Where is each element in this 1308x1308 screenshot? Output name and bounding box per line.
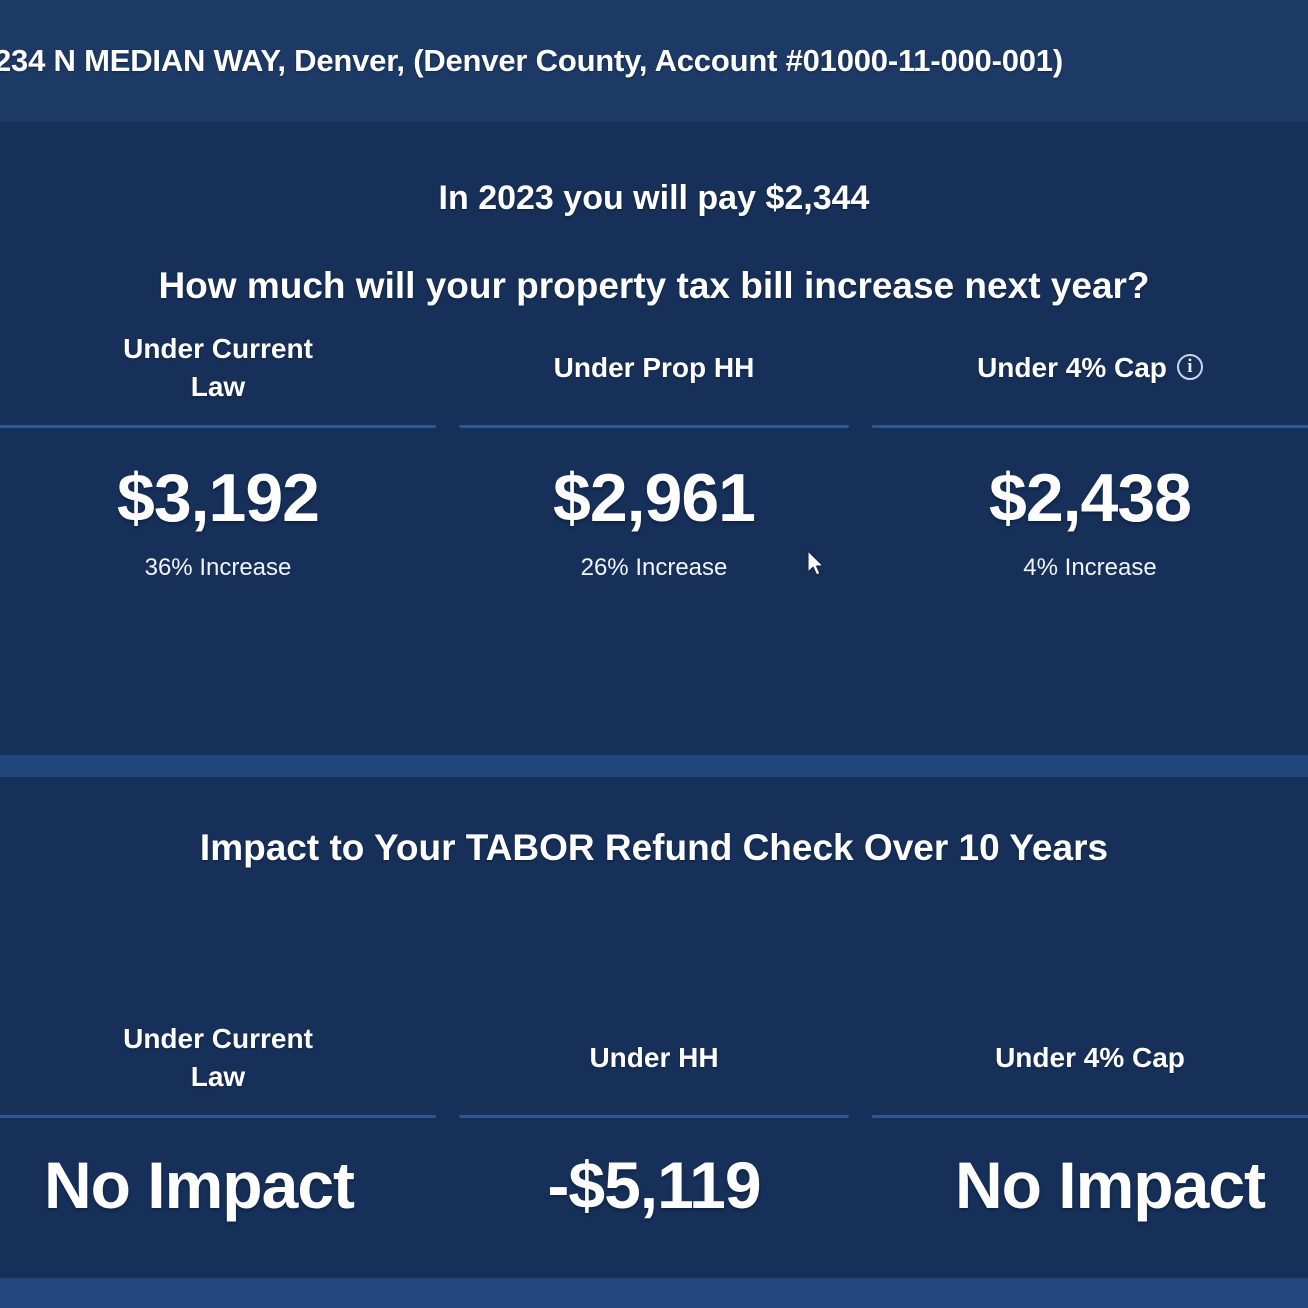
tabor-column-four-percent-cap: Under 4% Cap No Impact bbox=[872, 1000, 1308, 1218]
tabor-impact-four-percent-cap: No Impact bbox=[955, 1152, 1265, 1218]
column-divider-rule bbox=[0, 425, 436, 428]
page-bottom-band bbox=[0, 1278, 1308, 1308]
scenario-increase-prop-hh: 26% Increase bbox=[581, 554, 728, 582]
scenario-label-prop-hh: Under Prop HH bbox=[540, 310, 769, 425]
scenario-amount-prop-hh: $2,961 bbox=[553, 464, 755, 532]
property-address-title: 234 N MEDIAN WAY, Denver, (Denver County… bbox=[0, 43, 1063, 79]
column-divider-rule bbox=[459, 1115, 849, 1118]
tabor-impact-current-law: No Impact bbox=[44, 1152, 354, 1218]
scenario-column-four-percent-cap: Under 4% Cap $2,438 4% Increase bbox=[872, 310, 1308, 582]
tabor-scenario-columns: Under Current Law No Impact Under HH -$5… bbox=[0, 1000, 1308, 1218]
scenario-label-text: Under 4% Cap bbox=[977, 349, 1167, 387]
tabor-column-hh: Under HH -$5,119 bbox=[436, 1000, 872, 1218]
scenario-column-current-law: Under Current Law $3,192 36% Increase bbox=[0, 310, 436, 582]
scenario-label-current-law: Under Current Law bbox=[109, 310, 327, 425]
section-question-title: How much will your property tax bill inc… bbox=[0, 263, 1308, 309]
tabor-label-current-law: Under Current Law bbox=[109, 1000, 327, 1115]
property-tax-calculator-results: 234 N MEDIAN WAY, Denver, (Denver County… bbox=[0, 0, 1308, 1308]
column-divider-rule bbox=[0, 1115, 436, 1118]
current-year-payment-headline: In 2023 you will pay $2,344 bbox=[0, 179, 1308, 218]
scenario-amount-four-percent-cap: $2,438 bbox=[989, 464, 1191, 532]
tabor-label-hh: Under HH bbox=[575, 1000, 732, 1115]
tabor-impact-hh: -$5,119 bbox=[547, 1152, 760, 1218]
column-divider-rule bbox=[872, 425, 1308, 428]
column-divider-rule bbox=[459, 425, 849, 428]
scenario-column-prop-hh: Under Prop HH $2,961 26% Increase bbox=[436, 310, 872, 582]
scenario-increase-four-percent-cap: 4% Increase bbox=[1023, 554, 1156, 582]
tabor-section-title: Impact to Your TABOR Refund Check Over 1… bbox=[0, 825, 1308, 871]
info-icon[interactable] bbox=[1177, 354, 1203, 380]
scenario-label-four-percent-cap: Under 4% Cap bbox=[963, 310, 1217, 425]
section-divider-band bbox=[0, 755, 1308, 777]
tabor-label-four-percent-cap: Under 4% Cap bbox=[981, 1000, 1199, 1115]
scenario-increase-current-law: 36% Increase bbox=[145, 554, 292, 582]
tabor-column-current-law: Under Current Law No Impact bbox=[0, 1000, 436, 1218]
scenario-amount-current-law: $3,192 bbox=[117, 464, 319, 532]
address-header-band: 234 N MEDIAN WAY, Denver, (Denver County… bbox=[0, 0, 1308, 122]
tax-scenario-columns: Under Current Law $3,192 36% Increase Un… bbox=[0, 310, 1308, 582]
column-divider-rule bbox=[872, 1115, 1308, 1118]
